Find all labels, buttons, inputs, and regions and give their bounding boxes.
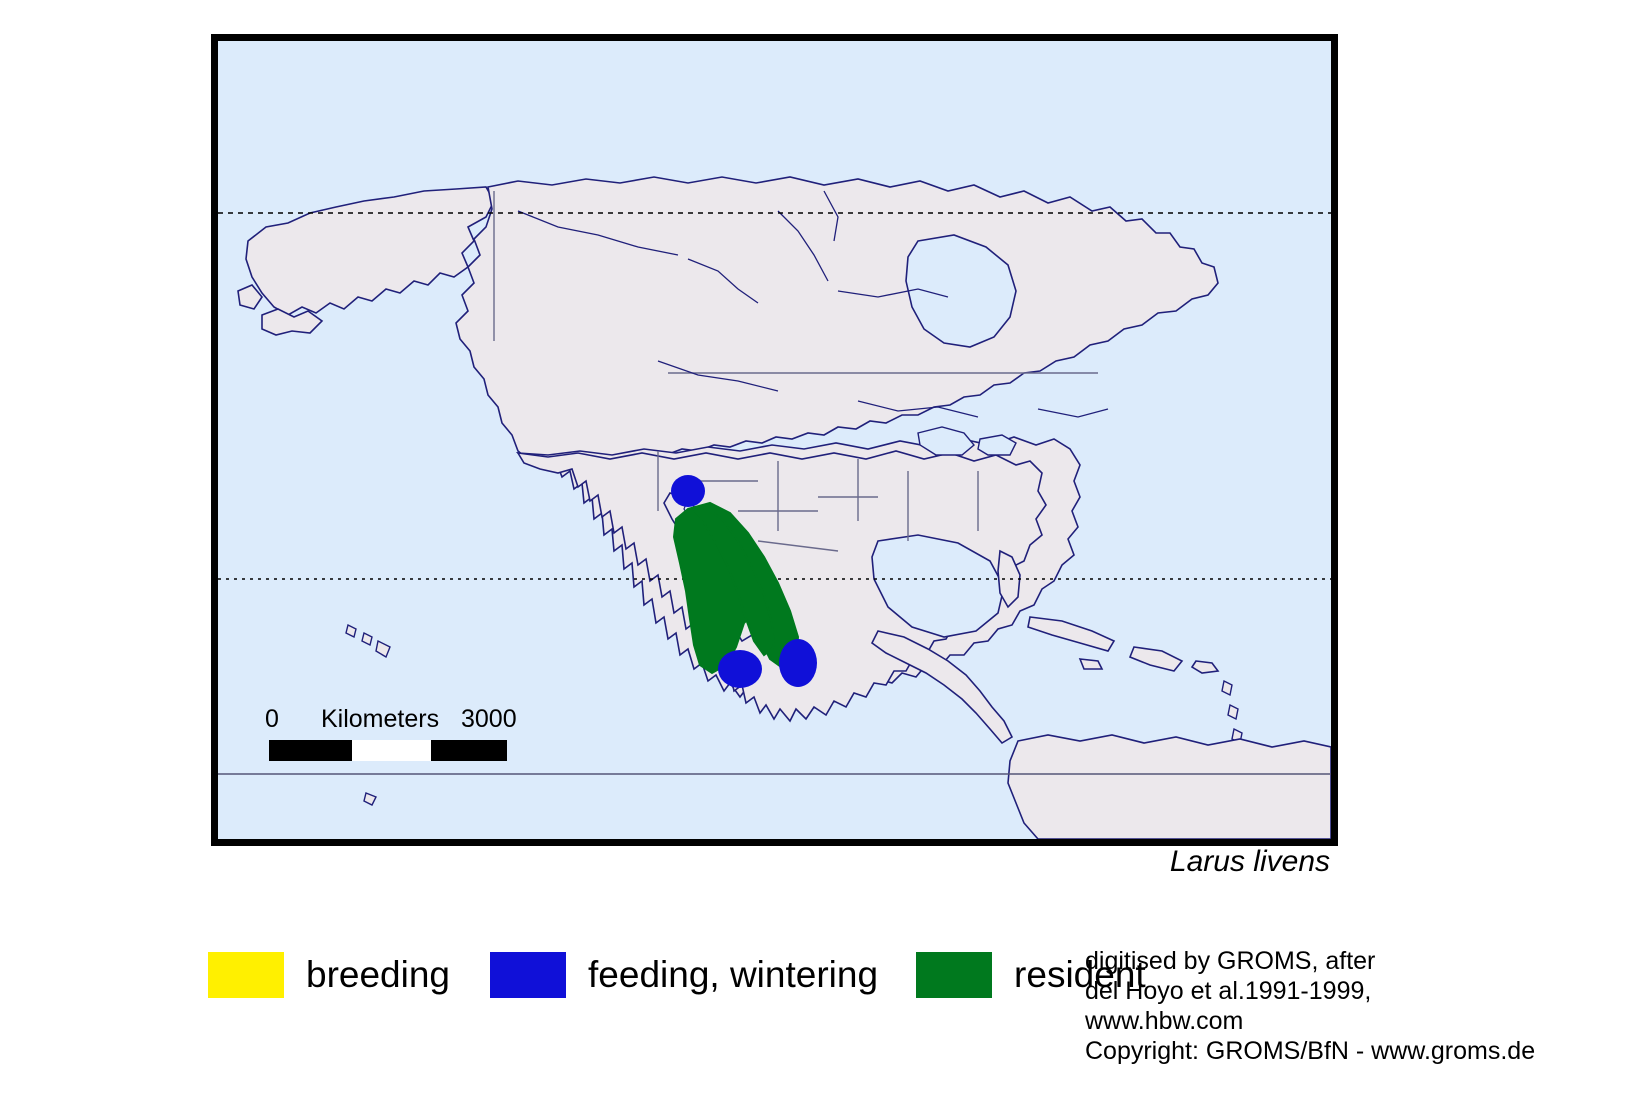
- feeding-point-southwest: [718, 650, 762, 688]
- feeding-point-southeast: [779, 639, 817, 687]
- map-frame: 0 Kilometers 3000: [211, 34, 1338, 846]
- attribution-line-3: www.hbw.com: [1085, 1006, 1535, 1036]
- attribution-block: digitised by GROMS, after del Hoyo et al…: [1085, 946, 1535, 1066]
- attribution-line-2: del Hoyo et al.1991-1999,: [1085, 976, 1535, 1006]
- feeding-point-north: [671, 475, 705, 507]
- scale-segment-2: [352, 740, 431, 761]
- legend-item-feeding-wintering: feeding, wintering: [490, 952, 878, 998]
- scale-segment-3: [431, 740, 507, 761]
- attribution-line-4: Copyright: GROMS/BfN - www.groms.de: [1085, 1036, 1535, 1066]
- legend-label-feeding-wintering: feeding, wintering: [588, 954, 878, 996]
- scale-segment-1: [269, 740, 352, 761]
- scale-unit-label: Kilometers: [321, 705, 439, 734]
- scale-max-label: 3000: [461, 705, 517, 734]
- scale-bar-graphic: [269, 740, 507, 761]
- legend-item-breeding: breeding: [208, 952, 450, 998]
- feeding-wintering-swatch: [490, 952, 566, 998]
- scale-bar: 0 Kilometers 3000: [263, 705, 513, 735]
- resident-swatch: [916, 952, 992, 998]
- species-name-label: Larus livens: [0, 845, 1330, 879]
- breeding-swatch: [208, 952, 284, 998]
- legend-label-breeding: breeding: [306, 954, 450, 996]
- scale-bar-labels: 0 Kilometers 3000: [263, 705, 513, 735]
- legend: breeding feeding, wintering resident: [208, 952, 1146, 998]
- scale-min-label: 0: [265, 705, 279, 734]
- attribution-line-1: digitised by GROMS, after: [1085, 946, 1535, 976]
